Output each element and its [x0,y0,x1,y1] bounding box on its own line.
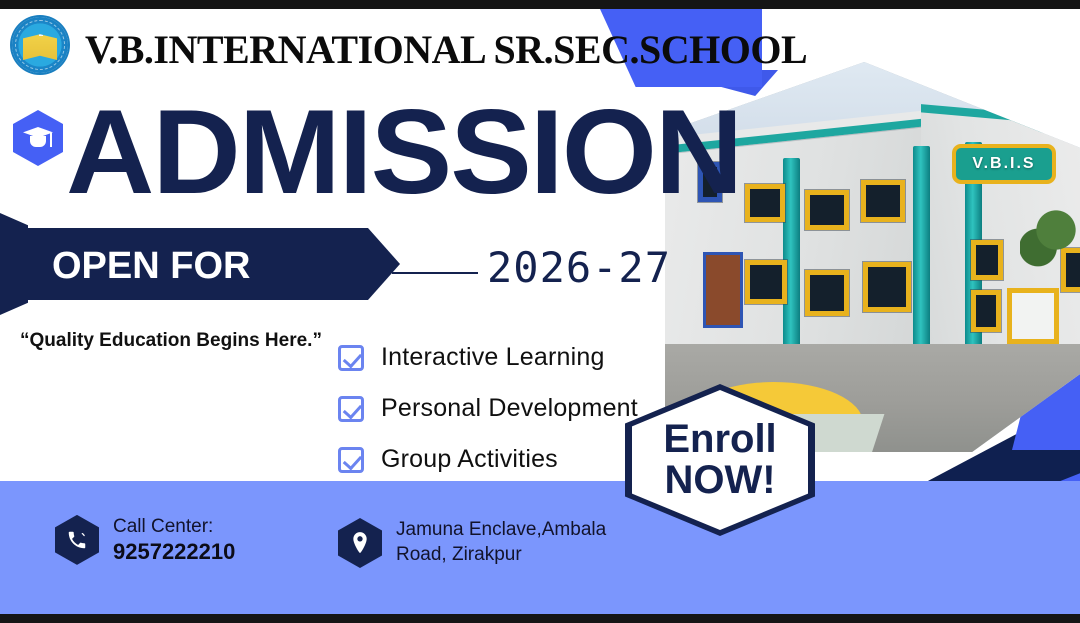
enroll-line-2: NOW! [664,460,775,500]
session-year: 2026-27 [487,243,671,292]
vbis-sign-text: V.B.I.S [972,155,1035,173]
building-column-2 [913,146,930,361]
call-center-label: Call Center: [113,515,235,539]
school-logo [12,17,68,73]
vbis-sign: V.B.I.S [952,144,1056,184]
feature-label: Personal Development [381,394,638,423]
building-main-gate [1007,288,1059,344]
feature-item: Group Activities [338,434,638,485]
enroll-now-inner: Enroll NOW! [632,390,808,530]
open-for-label: OPEN FOR [52,245,250,288]
building-window [861,180,905,222]
building-window [863,262,911,312]
year-connector-line [392,272,478,274]
phone-icon [55,515,99,565]
building-side-door [703,252,743,328]
building-window [805,190,849,230]
cap-tassel [50,133,52,147]
checkbox-checked-icon [338,447,364,473]
address-line-1: Jamuna Enclave,Ambala [396,518,606,543]
tagline: “Quality Education Begins Here.” [20,330,322,352]
call-center-number: 9257222210 [113,539,235,565]
building-window [745,184,785,222]
tree-foliage [1020,202,1080,272]
feature-label: Interactive Learning [381,343,605,372]
admission-poster: V.B.I.S V.B.INTERNATIONAL SR.SEC.SCHOOL … [0,0,1080,623]
cap-base [30,136,46,147]
address-text: Jamuna Enclave,Ambala Road, Zirakpur [396,518,606,567]
page-title: ADMISSION [66,92,741,212]
features-list: Interactive Learning Personal Developmen… [338,332,638,485]
map-pin-icon [338,518,382,568]
address-line-2: Road, Zirakpur [396,543,606,568]
graduation-cap-icon [13,110,63,166]
address-block[interactable]: Jamuna Enclave,Ambala Road, Zirakpur [338,518,606,568]
cap-shape [23,127,53,149]
checkbox-checked-icon [338,396,364,422]
checkbox-checked-icon [338,345,364,371]
feature-label: Group Activities [381,445,558,474]
call-center-text: Call Center: 9257222210 [113,515,235,565]
top-edge-bar [0,0,1080,9]
building-window [971,240,1003,280]
school-name-title: V.B.INTERNATIONAL SR.SEC.SCHOOL [85,26,807,73]
feature-item: Personal Development [338,383,638,434]
building-window [745,260,787,304]
building-window [805,270,849,316]
feature-item: Interactive Learning [338,332,638,383]
call-center-block[interactable]: Call Center: 9257222210 [55,515,235,565]
building-window [971,290,1001,332]
bottom-edge-bar [0,614,1080,623]
building-column-1 [783,158,800,358]
enroll-line-1: Enroll [663,420,776,459]
